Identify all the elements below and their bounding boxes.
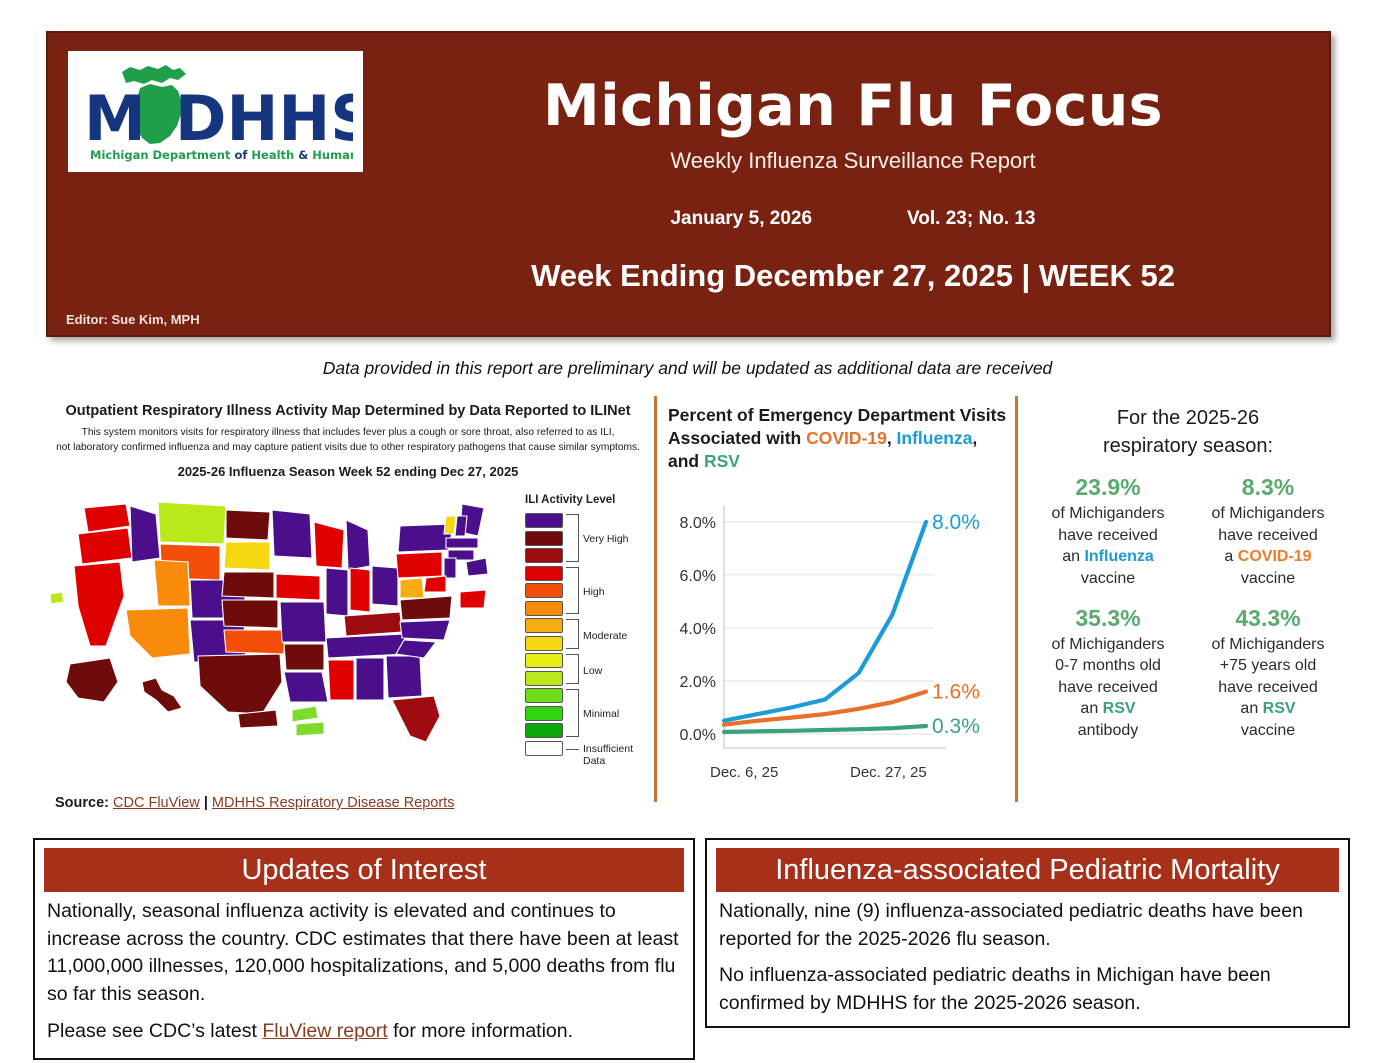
state-ND bbox=[226, 510, 270, 540]
ed-visits-chart-panel: Percent of Emergency Department Visits A… bbox=[668, 396, 1008, 806]
svg-text:Michigan Department of Health: Michigan Department of Health & Human Se… bbox=[90, 148, 353, 162]
stat-percent: 8.3% bbox=[1192, 474, 1344, 501]
chart-title-part2: , bbox=[887, 428, 897, 448]
chart-ytick-label: 8.0% bbox=[680, 515, 716, 532]
ili-legend-group-label: High bbox=[583, 586, 605, 598]
vaccination-stat: 35.3%of Michiganders0-7 months oldhave r… bbox=[1028, 605, 1188, 741]
stat-line: 0-7 months old bbox=[1032, 655, 1184, 676]
stat-percent: 43.3% bbox=[1192, 605, 1344, 632]
chart-ytick-label: 6.0% bbox=[680, 568, 716, 585]
stat-line-prefix: an bbox=[1240, 700, 1262, 717]
state-MA bbox=[446, 538, 478, 548]
stat-pathogen-label: RSV bbox=[1263, 700, 1296, 717]
ili-legend-color bbox=[525, 531, 563, 546]
stat-line: of Michiganders bbox=[1032, 503, 1184, 524]
ili-legend-swatch bbox=[525, 722, 647, 740]
ed-visits-line-chart[interactable]: 0.0%2.0%4.0%6.0%8.0%8.0%1.6%0.3% bbox=[668, 496, 1008, 766]
ili-legend-color bbox=[525, 566, 563, 581]
state-TX bbox=[198, 654, 282, 714]
territory-VI2 bbox=[296, 722, 324, 736]
updates-paragraph-1: Nationally, seasonal influenza activity … bbox=[47, 898, 681, 1009]
stats-heading-line2: respiratory season: bbox=[1028, 433, 1348, 461]
state-AR bbox=[284, 644, 324, 670]
stat-line-prefix: an bbox=[1080, 700, 1102, 717]
state-CA bbox=[74, 562, 124, 646]
ili-legend-color bbox=[525, 706, 563, 721]
chart-series-line-influenza[interactable] bbox=[724, 522, 926, 721]
ili-legend-brace bbox=[566, 514, 579, 562]
state-LA bbox=[284, 672, 328, 702]
vaccination-stats-panel: For the 2025-26 respiratory season: 23.9… bbox=[1028, 396, 1348, 757]
map-title: Outpatient Respiratory Illness Activity … bbox=[48, 403, 648, 419]
ili-legend-group-label: Minimal bbox=[583, 708, 619, 720]
stats-heading-line1: For the 2025-26 bbox=[1028, 405, 1348, 433]
state-UT bbox=[154, 560, 190, 606]
ili-legend-color bbox=[525, 601, 563, 616]
map-season-line: 2025-26 Influenza Season Week 52 ending … bbox=[48, 464, 648, 479]
ili-legend-color bbox=[525, 548, 563, 563]
stat-line: +75 years old bbox=[1192, 655, 1344, 676]
territory-VI bbox=[292, 706, 318, 722]
state-PA bbox=[396, 552, 442, 578]
ili-legend-color bbox=[525, 583, 563, 598]
stat-line-suffix: antibody bbox=[1032, 720, 1184, 741]
header-meta: January 5, 2026 Vol. 23; No. 13 bbox=[378, 208, 1328, 230]
ili-legend-color bbox=[525, 741, 563, 756]
state-OH bbox=[372, 566, 398, 606]
updates-box-body: Nationally, seasonal influenza activity … bbox=[35, 892, 693, 1045]
stat-percent: 35.3% bbox=[1032, 605, 1184, 632]
state-HI bbox=[142, 678, 182, 712]
chart-title-influenza: Influenza bbox=[897, 428, 973, 448]
state-NV bbox=[122, 558, 158, 608]
chart-ytick-label: 4.0% bbox=[680, 621, 716, 638]
ili-legend-brace bbox=[566, 567, 579, 615]
stat-line: have received bbox=[1192, 677, 1344, 698]
state-AZ bbox=[126, 608, 190, 658]
page-subtitle: Weekly Influenza Surveillance Report bbox=[378, 148, 1328, 174]
mortality-box-body: Nationally, nine (9) influenza-associate… bbox=[707, 892, 1348, 1018]
stats-heading: For the 2025-26 respiratory season: bbox=[1028, 405, 1348, 460]
vaccination-stat: 23.9%of Michigandershave receivedan Infl… bbox=[1028, 474, 1188, 589]
editor-label: Editor: Sue Kim, MPH bbox=[66, 312, 200, 327]
stat-line: of Michiganders bbox=[1192, 503, 1344, 524]
stat-line: have received bbox=[1032, 525, 1184, 546]
week-ending-label: Week Ending December 27, 2025 | WEEK 52 bbox=[378, 258, 1328, 294]
state-GA bbox=[386, 656, 422, 698]
chart-title-rsv: RSV bbox=[704, 451, 740, 471]
chart-end-label-rsv: 0.3% bbox=[932, 715, 980, 738]
ili-legend-swatch bbox=[525, 512, 647, 530]
state-WV bbox=[400, 578, 424, 598]
middle-band: Outpatient Respiratory Illness Activity … bbox=[0, 396, 1375, 811]
state-WI bbox=[314, 522, 344, 568]
state-AL bbox=[356, 658, 384, 700]
mortality-box-heading: Influenza-associated Pediatric Mortality bbox=[716, 848, 1339, 892]
ili-legend-brace bbox=[566, 654, 579, 684]
state-OR bbox=[78, 528, 132, 564]
ili-activity-map-panel: Outpatient Respiratory Illness Activity … bbox=[48, 396, 648, 811]
chart-end-label-influenza: 8.0% bbox=[932, 511, 980, 534]
ili-legend: ILI Activity Level Very HighHighModerate… bbox=[525, 494, 647, 763]
stats-grid: 23.9%of Michigandershave receivedan Infl… bbox=[1028, 474, 1348, 757]
state-MN bbox=[272, 510, 312, 558]
chart-xtick-1: Dec. 27, 25 bbox=[850, 764, 927, 781]
state-OK bbox=[224, 630, 284, 654]
ili-legend-brace bbox=[566, 689, 579, 737]
source-separator: | bbox=[204, 795, 208, 811]
stat-line-highlight: an RSV bbox=[1192, 698, 1344, 719]
issue-date: January 5, 2026 bbox=[670, 208, 812, 230]
ili-legend-color bbox=[525, 636, 563, 651]
chart-series-line-rsv[interactable] bbox=[724, 726, 926, 732]
ili-legend-color bbox=[525, 723, 563, 738]
stat-line-prefix: an bbox=[1062, 548, 1084, 565]
ili-legend-brace bbox=[566, 619, 579, 649]
state-NH bbox=[455, 516, 467, 536]
ili-legend-color bbox=[525, 513, 563, 528]
stat-line-suffix: vaccine bbox=[1192, 720, 1344, 741]
territory-GU bbox=[50, 592, 64, 604]
ili-legend-group-label: Low bbox=[583, 665, 602, 677]
stat-description: of Michigandershave receivedan Influenza… bbox=[1032, 503, 1184, 589]
stat-line: have received bbox=[1192, 525, 1344, 546]
state-KS bbox=[222, 600, 278, 628]
chart-series-line-covid-19[interactable] bbox=[724, 692, 926, 725]
vaccination-stat: 43.3%of Michiganders+75 years oldhave re… bbox=[1188, 605, 1348, 741]
chart-title: Percent of Emergency Department Visits A… bbox=[668, 404, 1008, 473]
state-MO bbox=[280, 602, 326, 642]
stat-line-suffix: vaccine bbox=[1192, 568, 1344, 589]
map-note: This system monitors visits for respirat… bbox=[48, 426, 648, 456]
panel-divider-2 bbox=[1015, 396, 1018, 802]
fluview-report-link[interactable]: FluView report bbox=[262, 1020, 387, 1042]
ili-legend-swatch bbox=[525, 565, 647, 583]
ili-legend-color bbox=[525, 653, 563, 668]
panel-divider-1 bbox=[654, 396, 657, 802]
map-note-line2: not laboratory confirmed influenza and m… bbox=[48, 441, 648, 456]
state-NC bbox=[400, 620, 450, 640]
state-SD bbox=[224, 542, 270, 570]
state-VT bbox=[444, 516, 456, 534]
stat-percent: 23.9% bbox=[1032, 474, 1184, 501]
state-NYC-box bbox=[466, 558, 488, 576]
stat-pathogen-label: Influenza bbox=[1084, 548, 1153, 565]
source-link-cdc-fluview[interactable]: CDC FluView bbox=[113, 795, 200, 811]
chart-xtick-0: Dec. 6, 25 bbox=[710, 764, 778, 781]
state-TN bbox=[326, 634, 406, 658]
ili-legend-group-label: Insufficient Data bbox=[583, 743, 647, 767]
data-disclaimer: Data provided in this report are prelimi… bbox=[0, 358, 1375, 379]
chart-ytick-label: 2.0% bbox=[680, 674, 716, 691]
state-SC bbox=[396, 640, 436, 658]
state-MS bbox=[328, 660, 354, 700]
source-prefix: Source: bbox=[55, 795, 109, 811]
ili-legend-tick bbox=[566, 749, 579, 750]
state-NE bbox=[222, 572, 274, 598]
state-IN bbox=[350, 568, 370, 612]
state-IA bbox=[276, 574, 320, 600]
report-header: M DHHS Michigan Department of Health & H… bbox=[46, 31, 1331, 337]
stat-line-highlight: an RSV bbox=[1032, 698, 1184, 719]
state-VA bbox=[400, 596, 452, 620]
ili-legend-color bbox=[525, 671, 563, 686]
updates-paragraph-2: Please see CDC’s latest FluView report f… bbox=[47, 1018, 681, 1046]
state-AK bbox=[66, 658, 118, 702]
stat-line: of Michiganders bbox=[1192, 634, 1344, 655]
stat-line: of Michiganders bbox=[1032, 634, 1184, 655]
chart-ytick-label: 0.0% bbox=[680, 727, 716, 744]
ili-legend-color bbox=[525, 688, 563, 703]
state-WA bbox=[84, 504, 130, 532]
state-FL bbox=[392, 696, 440, 742]
state-MT bbox=[158, 502, 226, 544]
state-DC-box bbox=[460, 590, 486, 608]
issue-volume: Vol. 23; No. 13 bbox=[907, 208, 1035, 230]
mortality-paragraph-2: No influenza-associated pediatric deaths… bbox=[719, 962, 1336, 1017]
mdhhs-logo-graphic: M DHHS Michigan Department of Health & H… bbox=[78, 58, 353, 166]
svg-text:M: M bbox=[84, 82, 146, 155]
pediatric-mortality-box: Influenza-associated Pediatric Mortality… bbox=[705, 838, 1350, 1028]
map-note-line1: This system monitors visits for respirat… bbox=[48, 426, 648, 441]
ili-legend-swatch bbox=[525, 600, 647, 618]
ili-legend-swatches: Very HighHighModerateLowMinimalInsuffici… bbox=[525, 512, 647, 763]
ili-legend-title: ILI Activity Level bbox=[525, 494, 647, 506]
ili-legend-swatch bbox=[525, 687, 647, 705]
state-ID bbox=[130, 506, 160, 562]
updates-p2-post: for more information. bbox=[388, 1020, 573, 1042]
ili-legend-group-label: Moderate bbox=[583, 630, 627, 642]
ili-legend-color bbox=[525, 618, 563, 633]
updates-of-interest-box: Updates of Interest Nationally, seasonal… bbox=[33, 838, 695, 1060]
stat-line-highlight: a COVID-19 bbox=[1192, 546, 1344, 567]
state-DE-MD bbox=[424, 576, 446, 592]
svg-text:DHHS: DHHS bbox=[175, 82, 353, 155]
updates-p2-pre: Please see CDC’s latest bbox=[47, 1020, 262, 1042]
stat-pathogen-label: RSV bbox=[1103, 700, 1136, 717]
stat-line-highlight: an Influenza bbox=[1032, 546, 1184, 567]
stat-line: have received bbox=[1032, 677, 1184, 698]
state-NJ bbox=[444, 558, 456, 578]
stat-description: of Michiganders+75 years oldhave receive… bbox=[1192, 634, 1344, 741]
ili-legend-group-label: Very High bbox=[583, 533, 629, 545]
state-IL bbox=[326, 568, 348, 616]
updates-box-heading: Updates of Interest bbox=[44, 848, 684, 892]
mdhhs-logo: M DHHS Michigan Department of Health & H… bbox=[68, 51, 363, 172]
mortality-paragraph-1: Nationally, nine (9) influenza-associate… bbox=[719, 898, 1336, 953]
stat-line-prefix: a bbox=[1224, 548, 1237, 565]
vaccination-stat: 8.3%of Michigandershave receiveda COVID-… bbox=[1188, 474, 1348, 589]
us-ili-choropleth[interactable] bbox=[48, 496, 518, 796]
page-title: Michigan Flu Focus bbox=[378, 77, 1328, 137]
source-link-mdhhs-reports[interactable]: MDHHS Respiratory Disease Reports bbox=[212, 795, 455, 811]
stat-line-suffix: vaccine bbox=[1032, 568, 1184, 589]
state-MI bbox=[346, 520, 370, 570]
stat-pathogen-label: COVID-19 bbox=[1238, 548, 1312, 565]
state-KY bbox=[344, 612, 402, 636]
chart-title-covid: COVID-19 bbox=[806, 428, 887, 448]
ili-legend-swatch bbox=[525, 547, 647, 565]
stat-description: of Michigandershave receiveda COVID-19va… bbox=[1192, 503, 1344, 589]
source-line: Source: CDC FluView | MDHHS Respiratory … bbox=[55, 795, 454, 811]
stat-description: of Michiganders0-7 months oldhave receiv… bbox=[1032, 634, 1184, 741]
chart-end-label-covid-19: 1.6% bbox=[932, 681, 980, 704]
